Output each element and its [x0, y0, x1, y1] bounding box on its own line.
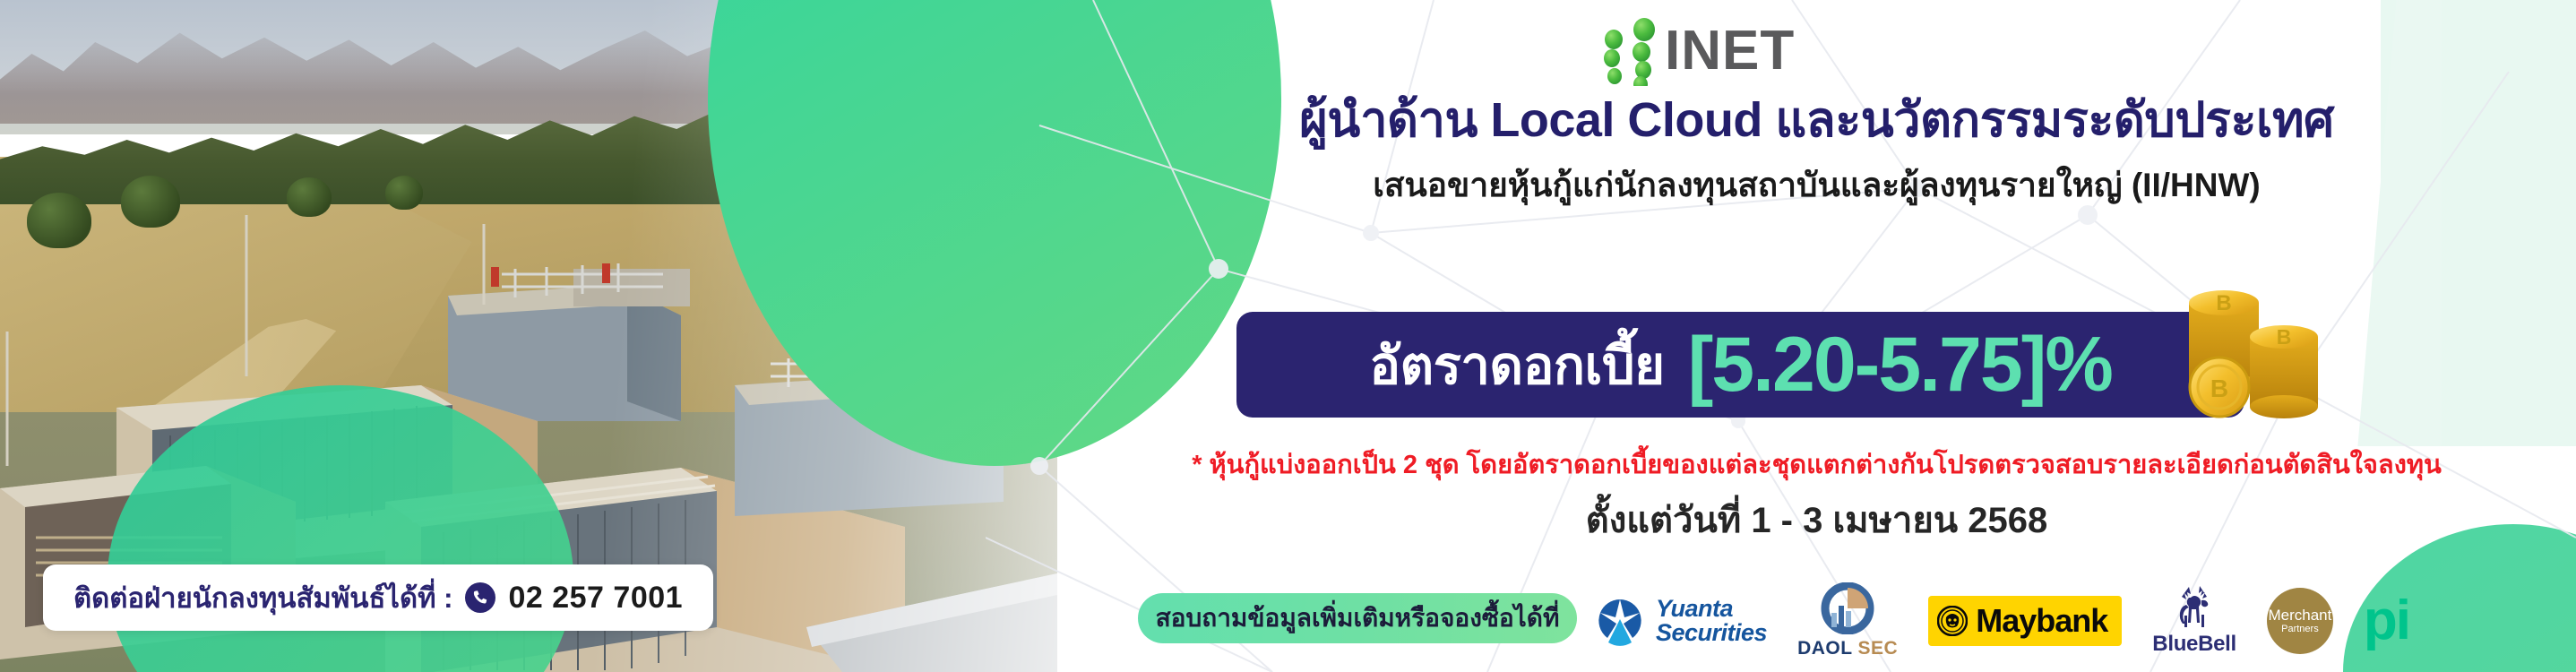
- maybank-wordmark: Maybank: [1976, 602, 2107, 640]
- interest-rate-box: อัตราดอกเบี้ย [5.20-5.75]%: [1236, 312, 2244, 418]
- partner-logos: Yuanta Securities DAOL: [1595, 573, 2545, 668]
- inet-debenture-banner: INET ผู้นำด้าน Local Cloud และนวัตกรรมระ…: [0, 0, 2576, 672]
- page-subtitle: เสนอขายหุ้นกู้แก่นักลงทุนสถาบันและผู้ลงท…: [1057, 161, 2576, 210]
- inet-logo: INET: [1595, 16, 1917, 86]
- inet-logo-text: INET: [1665, 22, 1795, 81]
- contact-phone-number: 02 257 7001: [508, 581, 683, 616]
- yuanta-line2: Securities: [1656, 621, 1767, 645]
- bluebell-deer-icon: [2169, 585, 2219, 630]
- svg-text:B: B: [2210, 375, 2228, 402]
- daol-line2: SEC: [1858, 638, 1899, 659]
- partner-merchant[interactable]: Merchant Partners: [2267, 580, 2333, 662]
- subscribe-cta-button[interactable]: สอบถามข้อมูลเพิ่มเติมหรือจองซื้อได้ที่: [1138, 593, 1577, 643]
- daol-circle-chart-icon: [1821, 582, 1874, 634]
- phone-icon: [465, 582, 495, 613]
- contact-label: ติดต่อฝ่ายนักลงทุนสัมพันธ์ได้ที่ :: [73, 575, 452, 620]
- investor-relations-contact-card: ติดต่อฝ่ายนักลงทุนสัมพันธ์ได้ที่ : 02 25…: [43, 564, 713, 631]
- merchant-line1: Merchant: [2268, 607, 2331, 624]
- interest-rate-value: [5.20-5.75]%: [1688, 326, 2112, 403]
- yuanta-star-icon: [1595, 596, 1645, 646]
- bitcoin-coin-stack-icon: B B B: [2173, 278, 2343, 426]
- partner-pi[interactable]: pi: [2364, 580, 2409, 662]
- bluebell-wordmark: BlueBell: [2152, 632, 2236, 657]
- content-column: INET ผู้นำด้าน Local Cloud และนวัตกรรมระ…: [1057, 0, 2576, 672]
- interest-rate-label: อัตราดอกเบี้ย: [1369, 323, 1664, 407]
- svg-text:B: B: [2277, 325, 2292, 349]
- partner-bluebell[interactable]: BlueBell: [2152, 580, 2236, 662]
- maybank-tiger-icon: [1937, 606, 1968, 636]
- disclaimer-note: * หุ้นกู้แบ่งออกเป็น 2 ชุด โดยอัตราดอกเบ…: [1057, 444, 2576, 485]
- yuanta-line1: Yuanta: [1656, 597, 1767, 621]
- partner-yuanta[interactable]: Yuanta Securities: [1595, 580, 1767, 662]
- pi-wordmark: pi: [2364, 595, 2409, 647]
- svg-text:B: B: [2216, 291, 2231, 315]
- daol-line1: DAOL: [1797, 638, 1852, 659]
- partner-daol[interactable]: DAOL SEC: [1797, 580, 1898, 662]
- partner-maybank[interactable]: Maybank: [1928, 580, 2122, 662]
- page-title: ผู้นำด้าน Local Cloud และนวัตกรรมระดับปร…: [1057, 88, 2576, 152]
- merchant-circle-icon: Merchant Partners: [2267, 588, 2333, 654]
- merchant-line2: Partners: [2281, 624, 2319, 634]
- offering-dates: ตั้งแต่วันที่ 1 - 3 เมษายน 2568: [1057, 491, 2576, 548]
